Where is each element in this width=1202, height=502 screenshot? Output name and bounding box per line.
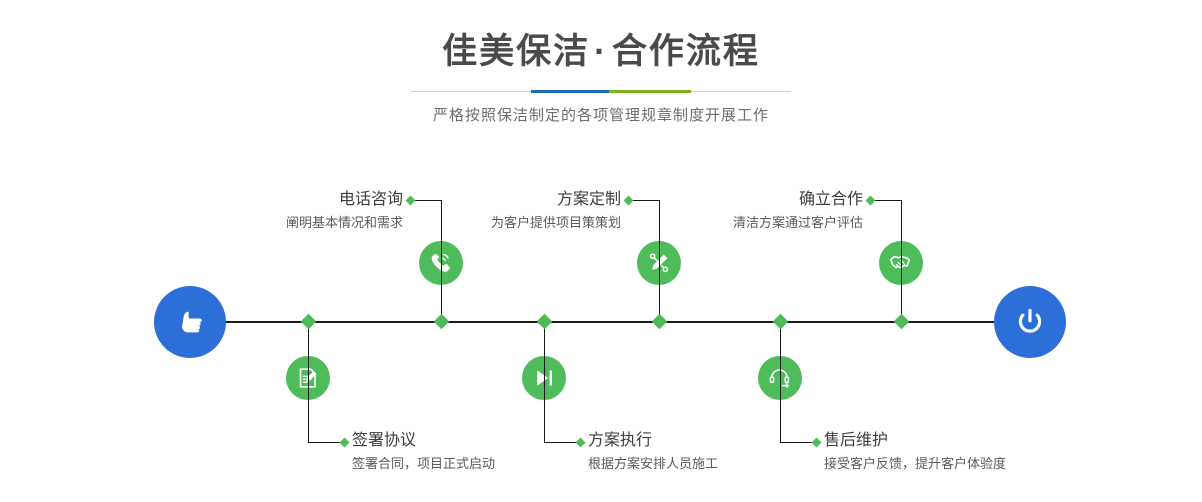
label-marker-2 [340, 438, 350, 448]
divider-segment-blue [531, 90, 609, 93]
process-flow-infographic: 佳美保洁·合作流程 严格按照保洁制定的各项管理规章制度开展工作 [0, 0, 1202, 502]
title-separator: · [590, 34, 612, 69]
timeline-end-endpoint [994, 286, 1066, 358]
step-desc-5: 清洁方案通过客户评估 [605, 213, 863, 233]
axis-marker-5 [894, 314, 910, 330]
axis-marker-6 [773, 314, 789, 330]
axis-marker-3 [652, 314, 668, 330]
step-connector-stem-6 [780, 321, 781, 443]
step-connector-stem-4 [544, 321, 545, 443]
title-main: 佳美保洁 [442, 32, 590, 71]
step-desc-3: 为客户提供项目策策划 [363, 213, 621, 233]
step-connector-stem-2 [308, 321, 309, 443]
axis-marker-1 [434, 314, 450, 330]
page-title: 佳美保洁·合作流程 [0, 34, 1202, 69]
step-label-6: 售后维护 接受客户反馈，提升客户体验度 [824, 431, 1154, 474]
step-connector-stem-5 [901, 200, 902, 322]
step-title-6: 售后维护 [824, 431, 1154, 451]
step-label-5: 确立合作 清洁方案通过客户评估 [605, 190, 863, 233]
step-label-arm-5 [872, 200, 902, 201]
step-desc-6: 接受客户反馈，提升客户体验度 [824, 454, 1154, 474]
header: 佳美保洁·合作流程 严格按照保洁制定的各项管理规章制度开展工作 [0, 0, 1202, 125]
step-title-5: 确立合作 [605, 190, 863, 210]
power-icon [1010, 302, 1050, 342]
divider-segment-green [609, 90, 691, 93]
thumbs-up-pointing-hand-icon [170, 302, 210, 342]
axis-marker-2 [301, 314, 317, 330]
page-subtitle: 严格按照保洁制定的各项管理规章制度开展工作 [0, 104, 1202, 125]
title-sub: 合作流程 [612, 32, 760, 71]
label-marker-5 [866, 196, 876, 206]
step-label-3: 方案定制 为客户提供项目策策划 [363, 190, 621, 233]
title-divider [411, 90, 791, 93]
axis-marker-4 [537, 314, 553, 330]
step-title-3: 方案定制 [363, 190, 621, 210]
timeline-start-endpoint [154, 286, 226, 358]
